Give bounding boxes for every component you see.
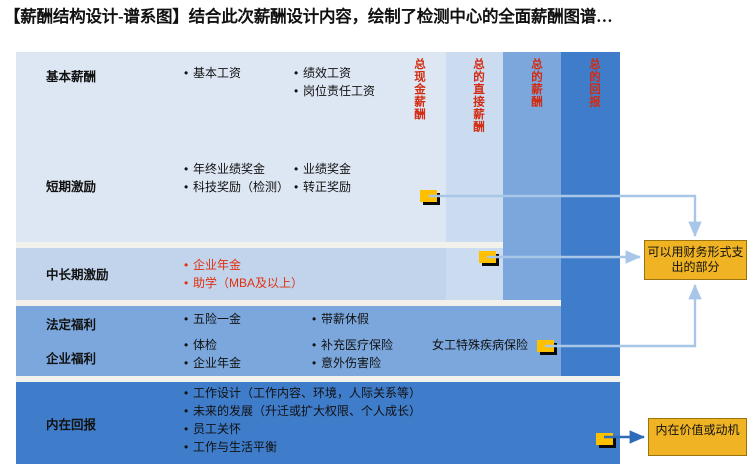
separator-2 bbox=[16, 300, 561, 306]
list-item: 企业年金 bbox=[184, 256, 303, 274]
list-item: 体检 bbox=[184, 336, 241, 354]
item-group-legal-1: 五险一金 bbox=[184, 310, 241, 328]
column-header-total-direct: 总的直接薪酬 bbox=[471, 58, 484, 133]
item-group-corp-2: 补充医疗保险意外伤害险 bbox=[312, 336, 393, 372]
list-item: 基本工资 bbox=[184, 64, 241, 82]
anchor-marker-total-reward-icon bbox=[596, 433, 613, 445]
list-item: 绩效工资 bbox=[294, 64, 375, 82]
column-header-total-comp: 总的薪酬 bbox=[529, 58, 542, 108]
category-basic-pay: 基本薪酬 bbox=[46, 66, 96, 85]
list-item: 岗位责任工资 bbox=[294, 82, 375, 100]
item-group-basic-2: 绩效工资岗位责任工资 bbox=[294, 64, 375, 100]
list-item: 年终业绩奖金 bbox=[184, 160, 289, 178]
category-intrinsic-reward: 内在回报 bbox=[46, 414, 96, 433]
spectrum-diagram: 总现金薪酬 总的直接薪酬 总的薪酬 总的回报 基本薪酬 短期激励 中长期激励 法… bbox=[16, 52, 740, 464]
item-group-legal-2: 带薪休假 bbox=[312, 310, 369, 328]
item-group-mid-long: 企业年金助学（MBA及以上） bbox=[184, 256, 303, 292]
item-group-short-1: 年终业绩奖金科技奖励（检测） bbox=[184, 160, 289, 196]
anchor-marker-cash-icon bbox=[420, 190, 437, 202]
diagram-canvas: 【薪酬结构设计-谱系图】结合此次薪酬设计内容，绘制了检测中心的全面薪酬图谱… 总… bbox=[0, 0, 755, 472]
list-item: 工作与生活平衡 bbox=[184, 438, 421, 456]
list-item: 转正奖励 bbox=[294, 178, 351, 196]
list-item: 带薪休假 bbox=[312, 310, 369, 328]
anchor-marker-total-comp-icon bbox=[537, 340, 554, 352]
category-legal-benefit: 法定福利 bbox=[46, 314, 96, 333]
list-item: 未来的发展（升迁或扩大权限、个人成长） bbox=[184, 402, 421, 420]
separator-3 bbox=[16, 376, 620, 382]
list-item: 科技奖励（检测） bbox=[184, 178, 289, 196]
list-item: 工作设计（工作内容、环境，人际关系等） bbox=[184, 384, 421, 402]
separator-1 bbox=[16, 242, 503, 248]
item-group-intrinsic: 工作设计（工作内容、环境，人际关系等）未来的发展（升迁或扩大权限、个人成长）员工… bbox=[184, 384, 421, 456]
callout-intrinsic-value: 内在价值或动机 bbox=[648, 418, 747, 456]
page-title: 【薪酬结构设计-谱系图】结合此次薪酬设计内容，绘制了检测中心的全面薪酬图谱… bbox=[4, 5, 752, 29]
list-item: 业绩奖金 bbox=[294, 160, 351, 178]
item-group-short-2: 业绩奖金转正奖励 bbox=[294, 160, 351, 196]
list-item: 五险一金 bbox=[184, 310, 241, 328]
category-short-incentive: 短期激励 bbox=[46, 176, 96, 195]
column-header-total-cash: 总现金薪酬 bbox=[412, 58, 425, 121]
item-group-corp-1: 体检企业年金 bbox=[184, 336, 241, 372]
callout-financial-portion: 可以用财务形式支出的部分 bbox=[644, 240, 747, 280]
list-item: 意外伤害险 bbox=[312, 354, 393, 372]
list-item: 助学（MBA及以上） bbox=[184, 274, 303, 292]
anchor-marker-direct-icon bbox=[479, 251, 496, 263]
list-item: 补充医疗保险 bbox=[312, 336, 393, 354]
category-mid-long-incentive: 中长期激励 bbox=[46, 264, 109, 283]
column-header-total-reward: 总的回报 bbox=[587, 58, 600, 108]
benefit-note-female-illness: 女工特殊疾病保险 bbox=[432, 336, 528, 354]
list-item: 企业年金 bbox=[184, 354, 241, 372]
category-corporate-benefit: 企业福利 bbox=[46, 348, 96, 367]
item-group-basic-1: 基本工资 bbox=[184, 64, 241, 82]
list-item: 员工关怀 bbox=[184, 420, 421, 438]
